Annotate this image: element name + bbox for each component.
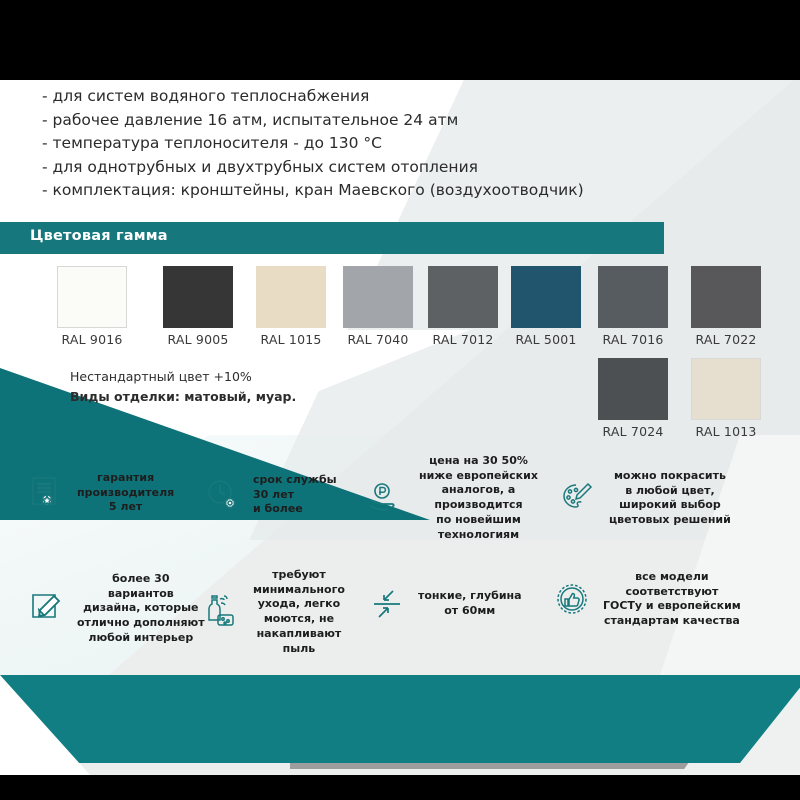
depth-arrows-icon: [365, 582, 409, 626]
swatch-ral-1015: RAL 1015: [256, 266, 326, 347]
feature-paintable: можно покрасить в любой цвет, широкий вы…: [556, 469, 731, 528]
feature-line: цена на 30 50%: [419, 454, 538, 469]
swatch-label: RAL 1013: [691, 424, 761, 439]
feature-designs: более 30 вариантов дизайна, которые отли…: [24, 572, 205, 646]
swatch-chip: [511, 266, 581, 328]
spec-row: - рабочее давление 16 атм, испытательное…: [42, 109, 642, 133]
feature-depth: тонкие, глубина от 60мм: [365, 582, 522, 626]
feature-line: ухода, легко: [253, 597, 345, 612]
swatch-ral-9005: RAL 9005: [163, 266, 233, 347]
swatch-chip: [598, 266, 668, 328]
swatch-ral-7022: RAL 7022: [691, 266, 761, 347]
slide-canvas: - для систем водяного теплоснабжения - р…: [0, 80, 800, 775]
feature-text: срок службы 30 лет и более: [253, 473, 337, 517]
feature-line: 5 лет: [77, 500, 174, 515]
spray-sponge-icon: [200, 590, 244, 634]
feature-line: тонкие, глубина: [418, 589, 522, 604]
certificate-icon: [24, 471, 68, 515]
swatch-label: RAL 7040: [343, 332, 413, 347]
spec-row: - температура теплоносителя - до 130 °C: [42, 132, 642, 156]
feature-line: аналогов, а: [419, 483, 538, 498]
clock-gear-icon: [200, 473, 244, 517]
feature-text: требуют минимального ухода, легко моются…: [253, 568, 345, 656]
feature-line: широкий выбор: [609, 498, 731, 513]
feature-line: производится: [419, 498, 538, 513]
feature-text: более 30 вариантов дизайна, которые отли…: [77, 572, 205, 646]
feature-text: можно покрасить в любой цвет, широкий вы…: [609, 469, 731, 528]
feature-service-life: срок службы 30 лет и более: [200, 473, 337, 517]
feature-line: гарантия: [77, 471, 174, 486]
feature-line: от 60мм: [418, 604, 522, 619]
swatch-label: RAL 7022: [691, 332, 761, 347]
feature-line: можно покрасить: [609, 469, 731, 484]
swatch-chip: [163, 266, 233, 328]
feature-price: цена на 30 50% ниже европейских аналогов…: [366, 454, 538, 542]
feature-line: и более: [253, 502, 337, 517]
feature-line: моются, не: [253, 612, 345, 627]
swatch-ral-7040: RAL 7040: [343, 266, 413, 347]
feature-text: тонкие, глубина от 60мм: [418, 589, 522, 618]
swatch-ral-7016: RAL 7016: [598, 266, 668, 347]
swatch-ral-7024: RAL 7024: [598, 358, 668, 439]
feature-line: производителя: [77, 486, 174, 501]
swatch-chip: [343, 266, 413, 328]
letterbox-bottom: [0, 775, 800, 800]
spec-row: - для систем водяного теплоснабжения: [42, 85, 642, 109]
swatch-ral-5001: RAL 5001: [511, 266, 581, 347]
feature-line: ГОСТу и европейским: [603, 599, 741, 614]
feature-text: цена на 30 50% ниже европейских аналогов…: [419, 454, 538, 542]
feature-line: стандартам качества: [603, 614, 741, 629]
feature-warranty: гарантия производителя 5 лет: [24, 471, 174, 515]
swatch-chip: [256, 266, 326, 328]
feature-text: гарантия производителя 5 лет: [77, 471, 174, 515]
swatch-label: RAL 9005: [163, 332, 233, 347]
swatch-label: RAL 7024: [598, 424, 668, 439]
feature-line: цветовых решений: [609, 513, 731, 528]
feature-line: минимального: [253, 583, 345, 598]
background-bottom-teal-band: [0, 675, 800, 775]
palette-brush-icon: [556, 476, 600, 520]
quality-thumbsup-icon: [550, 577, 594, 621]
swatch-label: RAL 7012: [428, 332, 498, 347]
swatch-ral-7012: RAL 7012: [428, 266, 498, 347]
feature-line: соответствуют: [603, 585, 741, 600]
feature-easy-care: требуют минимального ухода, легко моются…: [200, 568, 345, 656]
swatch-label: RAL 7016: [598, 332, 668, 347]
feature-line: в любой цвет,: [609, 484, 731, 499]
feature-line: ниже европейских: [419, 469, 538, 484]
spec-row: - для однотрубных и двухтрубных систем о…: [42, 156, 642, 180]
finish-notes: Нестандартный цвет +10% Виды отделки: ма…: [70, 367, 296, 408]
swatch-chip: [691, 358, 761, 420]
swatch-label: RAL 1015: [256, 332, 326, 347]
note-line: Нестандартный цвет +10%: [70, 367, 296, 387]
swatch-chip: [598, 358, 668, 420]
feature-line: требуют: [253, 568, 345, 583]
spec-row: - комплектация: кронштейны, кран Маевско…: [42, 179, 642, 203]
swatch-chip: [691, 266, 761, 328]
feature-line: вариантов: [77, 587, 205, 602]
feature-line: все модели: [603, 570, 741, 585]
pencil-paper-icon: [24, 587, 68, 631]
feature-grid: гарантия производителя 5 лет срок службы: [0, 455, 800, 670]
feature-line: дизайна, которые: [77, 601, 205, 616]
feature-line: более 30: [77, 572, 205, 587]
note-line: Виды отделки: матовый, муар.: [70, 387, 296, 407]
feature-line: технологиям: [419, 528, 538, 543]
feature-line: пыль: [253, 642, 345, 657]
feature-line: срок службы: [253, 473, 337, 488]
swatch-label: RAL 5001: [511, 332, 581, 347]
feature-line: любой интерьер: [77, 631, 205, 646]
swatch-chip: [428, 266, 498, 328]
swatch-chip: [57, 266, 127, 328]
feature-line: накапливают: [253, 627, 345, 642]
feature-line: 30 лет: [253, 488, 337, 503]
swatch-label: RAL 9016: [57, 332, 127, 347]
gamut-title: Цветовая гамма: [30, 228, 168, 244]
letterbox-top: [0, 0, 800, 80]
hand-ruble-icon: [366, 476, 410, 520]
swatch-ral-9016: RAL 9016: [57, 266, 127, 347]
feature-text: все модели соответствуют ГОСТу и европей…: [603, 570, 741, 629]
feature-line: отлично дополняют: [77, 616, 205, 631]
feature-quality: все модели соответствуют ГОСТу и европей…: [550, 570, 741, 629]
swatch-ral-1013: RAL 1013: [691, 358, 761, 439]
feature-line: по новейшим: [419, 513, 538, 528]
spec-list: - для систем водяного теплоснабжения - р…: [42, 85, 642, 203]
